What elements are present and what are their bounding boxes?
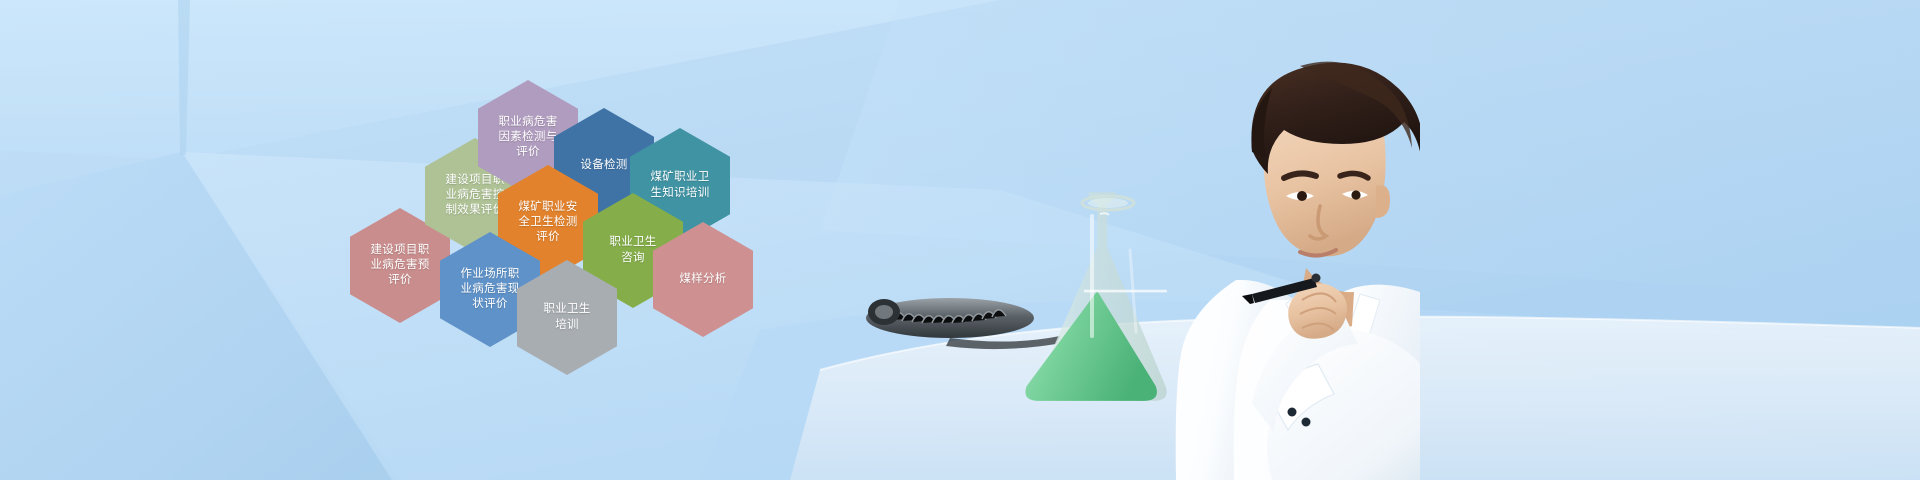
hexagon-label-line: 咨询 xyxy=(609,251,656,266)
hexagon-label-line: 职业病危害 xyxy=(499,115,558,130)
hexagon-label-line: 因素检测与 xyxy=(499,130,558,145)
hexagon-label-line: 煤矿职业安 xyxy=(519,200,578,215)
hexagon-label-line: 状评价 xyxy=(461,297,520,312)
hexagon-label-line: 评价 xyxy=(519,230,578,245)
hexagon-label-line: 培训 xyxy=(543,318,590,333)
hexagon-cluster: 建设项目职 业病危害预 评价 建设项目职 业病危害控 制效果评价 职业病危害 因… xyxy=(330,60,760,350)
hexagon-label-line: 评价 xyxy=(499,145,558,160)
coiled-hose-icon xyxy=(866,298,1060,349)
hexagon-label-line: 评价 xyxy=(371,273,430,288)
hexagon-label-line: 职业卫生 xyxy=(609,235,656,250)
hexagon-label-line: 建设项目职 xyxy=(371,243,430,258)
flask-icon xyxy=(1025,192,1166,401)
hexagon-label-line: 业病危害预 xyxy=(371,258,430,273)
hexagon-label-line: 业病危害现 xyxy=(461,282,520,297)
hexagon-label-line: 职业卫生 xyxy=(543,302,590,317)
person-figure xyxy=(1176,62,1420,480)
hexagon-label-line: 生知识培训 xyxy=(651,186,710,201)
photo-composition xyxy=(800,0,1420,480)
banner-root: 建设项目职 业病危害预 评价 建设项目职 业病危害控 制效果评价 职业病危害 因… xyxy=(0,0,1920,480)
hexagon-label-line: 作业场所职 xyxy=(461,267,520,282)
hexagon-label-line: 全卫生检测 xyxy=(519,215,578,230)
hexagon-label-line: 制效果评价 xyxy=(446,203,505,218)
hexagon-label-line: 煤样分析 xyxy=(679,272,726,287)
hexagon-label-line: 设备检测 xyxy=(580,158,627,173)
hexagon-label-line: 业病危害控 xyxy=(446,188,505,203)
hexagon-label-line: 煤矿职业卫 xyxy=(651,170,710,185)
